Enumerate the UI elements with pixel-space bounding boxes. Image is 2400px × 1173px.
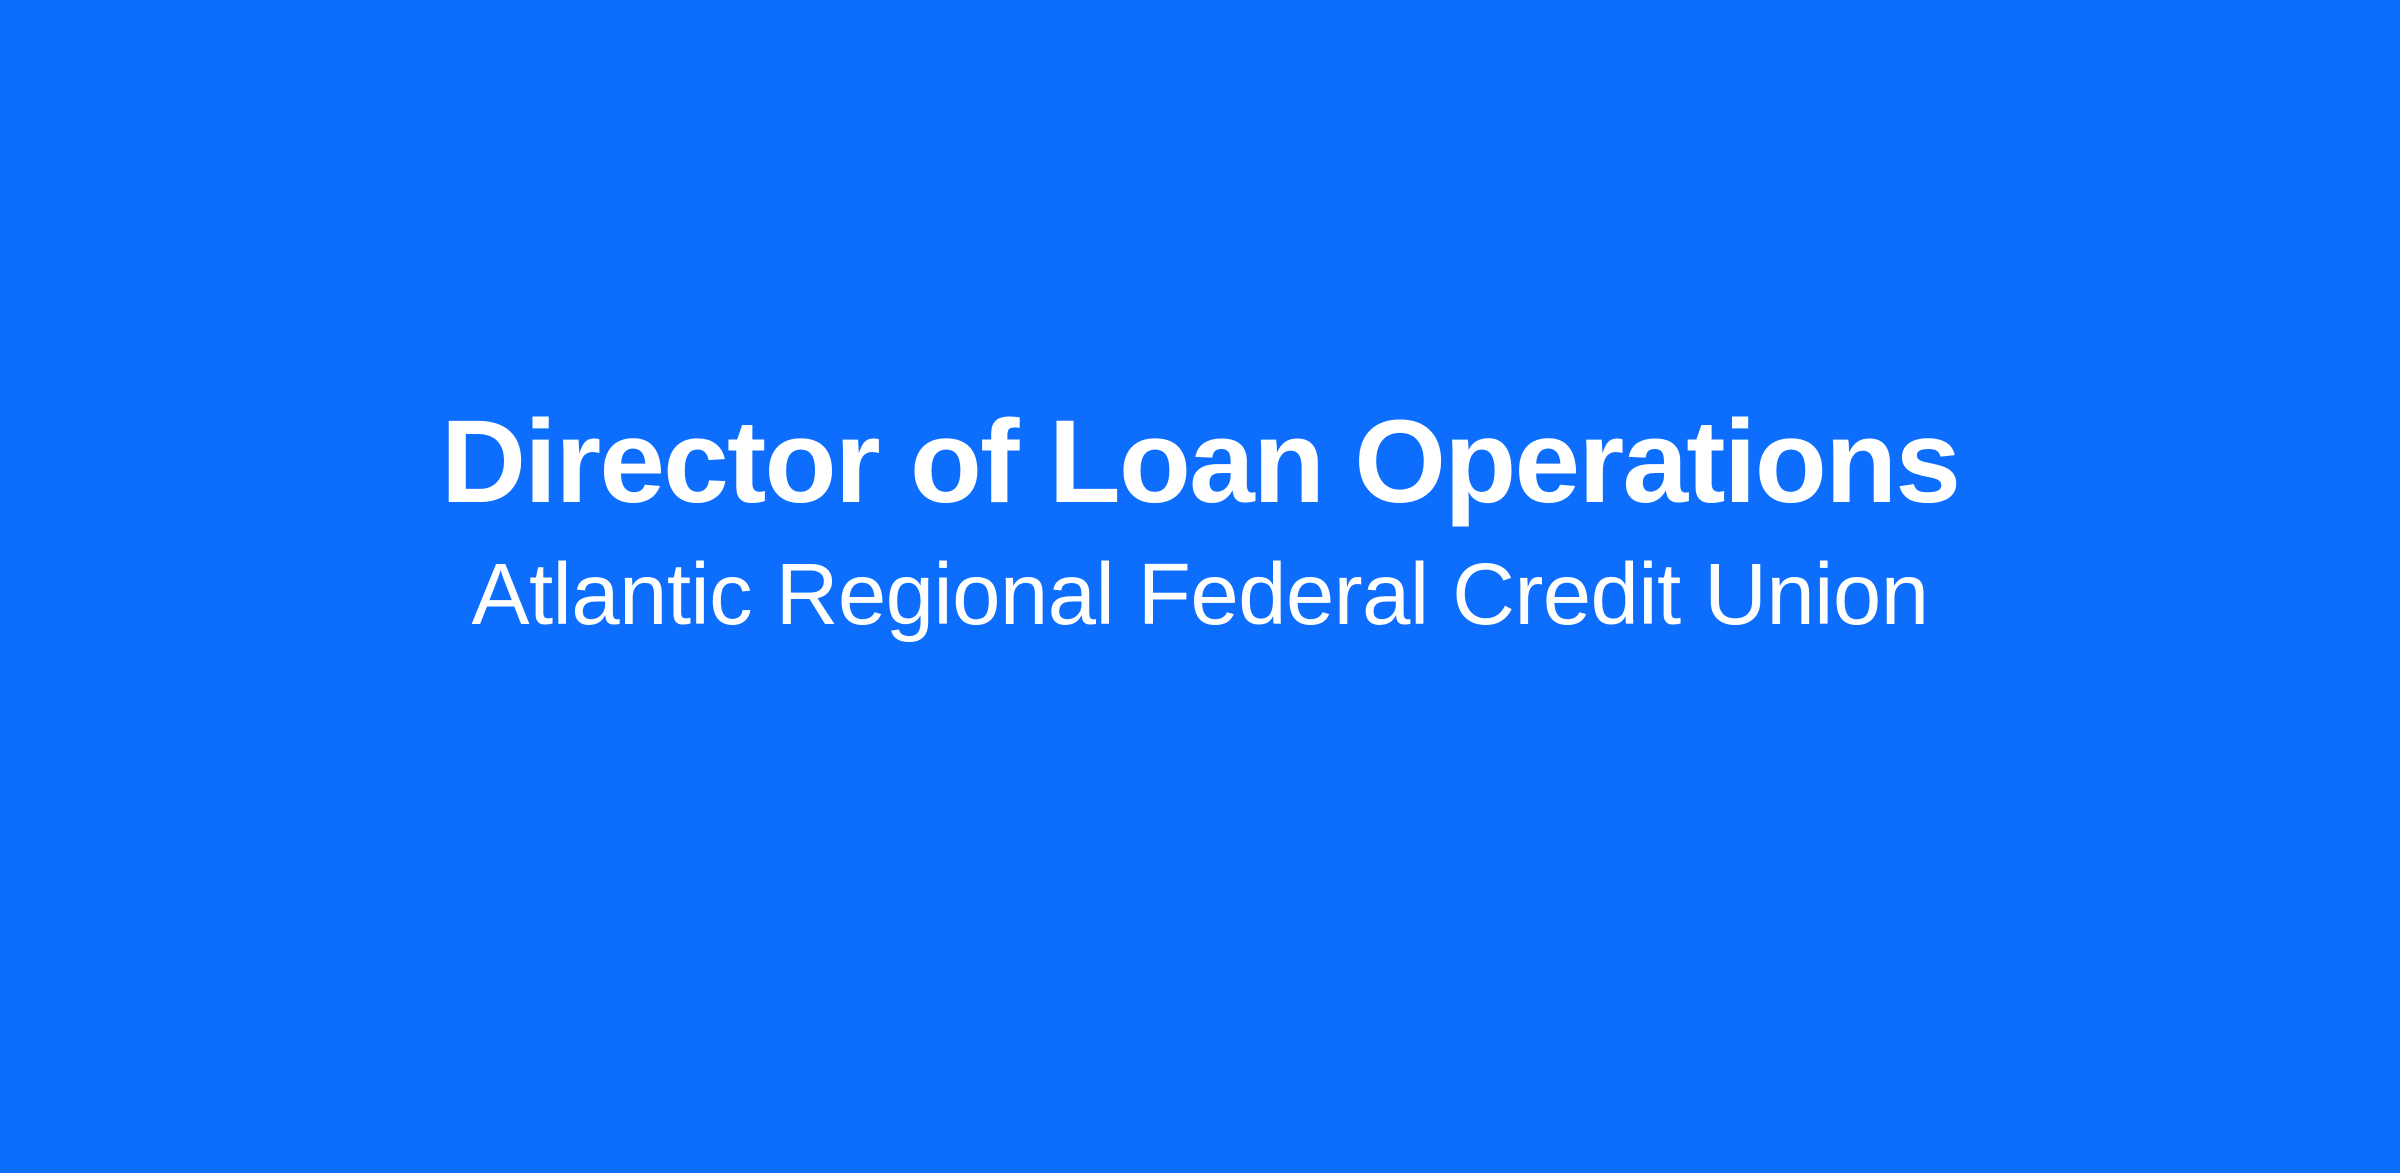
page-title: Director of Loan Operations: [441, 400, 1959, 525]
page-subtitle: Atlantic Regional Federal Credit Union: [472, 547, 1929, 643]
title-slide: Director of Loan Operations Atlantic Reg…: [0, 0, 2400, 1173]
title-block: Director of Loan Operations Atlantic Reg…: [0, 400, 2400, 643]
